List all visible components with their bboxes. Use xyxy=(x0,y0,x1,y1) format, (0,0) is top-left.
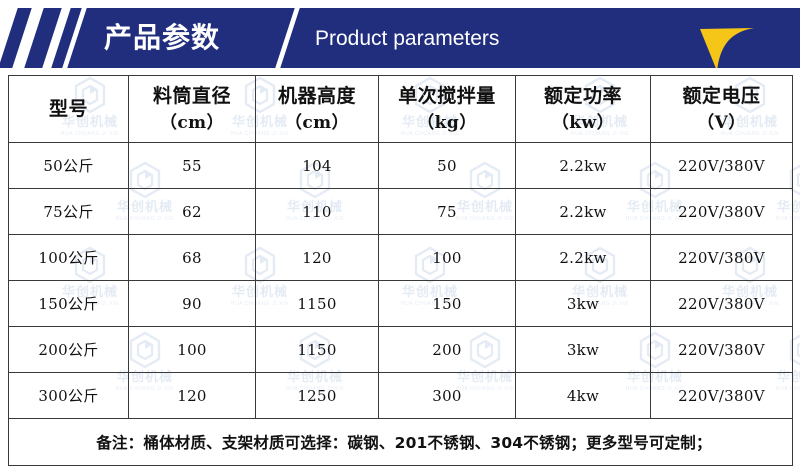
column-header-rated-voltage: 额定电压 （V） xyxy=(651,76,793,143)
cell-rated-voltage: 220V/380V xyxy=(651,281,793,327)
cell-barrel-diameter: 90 xyxy=(129,281,256,327)
cell-machine-height: 104 xyxy=(256,143,379,189)
cell-rated-power: 3kw xyxy=(516,281,651,327)
table-row: 75公斤62110752.2kw220V/380V xyxy=(9,189,793,235)
column-header-model: 型号 xyxy=(9,76,129,143)
cell-machine-height: 1150 xyxy=(256,281,379,327)
column-header-barrel-diameter: 料筒直径 （cm） xyxy=(129,76,256,143)
column-header-batch-capacity-unit: （kg） xyxy=(417,113,477,133)
table-footnote: 备注：桶体材质、支架材质可选择：碳钢、201不锈钢、304不锈钢；更多型号可定制… xyxy=(9,419,793,466)
table-footnote-row: 备注：桶体材质、支架材质可选择：碳钢、201不锈钢、304不锈钢；更多型号可定制… xyxy=(9,419,793,466)
cell-barrel-diameter: 55 xyxy=(129,143,256,189)
cell-batch-capacity: 75 xyxy=(379,189,516,235)
cell-machine-height: 1250 xyxy=(256,373,379,419)
column-header-machine-height-label: 机器高度 xyxy=(278,85,356,107)
cell-batch-capacity: 300 xyxy=(379,373,516,419)
cell-rated-voltage: 220V/380V xyxy=(651,189,793,235)
cell-rated-voltage: 220V/380V xyxy=(651,143,793,189)
column-header-batch-capacity: 单次搅拌量 （kg） xyxy=(379,76,516,143)
page-title-chinese: 产品参数 xyxy=(104,20,220,56)
cell-rated-voltage: 220V/380V xyxy=(651,235,793,281)
cell-rated-power: 2.2kw xyxy=(516,235,651,281)
column-header-rated-power-label: 额定功率 xyxy=(544,85,622,107)
cell-model: 75公斤 xyxy=(9,189,129,235)
table-row: 150公斤9011501503kw220V/380V xyxy=(9,281,793,327)
cell-machine-height: 1150 xyxy=(256,327,379,373)
column-header-rated-power-unit: （kw） xyxy=(552,113,614,133)
page-header-banner: 产品参数 Product parameters xyxy=(0,8,800,68)
cell-rated-voltage: 220V/380V xyxy=(651,373,793,419)
column-header-barrel-diameter-unit: （cm） xyxy=(160,113,224,133)
column-header-rated-voltage-unit: （V） xyxy=(697,113,746,133)
table-row: 50公斤55104502.2kw220V/380V xyxy=(9,143,793,189)
cell-batch-capacity: 100 xyxy=(379,235,516,281)
table-header: 型号 料筒直径 （cm） 机器高度 （cm） 单次搅拌量 （kg） 额定功率 （… xyxy=(9,76,793,143)
table-footer: 备注：桶体材质、支架材质可选择：碳钢、201不锈钢、304不锈钢；更多型号可定制… xyxy=(9,419,793,466)
cell-model: 200公斤 xyxy=(9,327,129,373)
cell-rated-power: 2.2kw xyxy=(516,143,651,189)
column-header-machine-height: 机器高度 （cm） xyxy=(256,76,379,143)
cell-machine-height: 120 xyxy=(256,235,379,281)
cell-rated-power: 4kw xyxy=(516,373,651,419)
column-header-machine-height-unit: （cm） xyxy=(285,113,349,133)
column-header-model-label: 型号 xyxy=(49,98,88,120)
table-header-row: 型号 料筒直径 （cm） 机器高度 （cm） 单次搅拌量 （kg） 额定功率 （… xyxy=(9,76,793,143)
cell-machine-height: 110 xyxy=(256,189,379,235)
table-body: 50公斤55104502.2kw220V/380V75公斤62110752.2k… xyxy=(9,143,793,419)
curved-triangle-icon xyxy=(700,26,754,68)
cell-model: 100公斤 xyxy=(9,235,129,281)
cell-rated-voltage: 220V/380V xyxy=(651,327,793,373)
cell-barrel-diameter: 62 xyxy=(129,189,256,235)
cell-barrel-diameter: 68 xyxy=(129,235,256,281)
cell-rated-power: 3kw xyxy=(516,327,651,373)
cell-barrel-diameter: 100 xyxy=(129,327,256,373)
column-header-rated-voltage-label: 额定电压 xyxy=(682,85,760,107)
column-header-rated-power: 额定功率 （kw） xyxy=(516,76,651,143)
table-row: 300公斤12012503004kw220V/380V xyxy=(9,373,793,419)
cell-model: 150公斤 xyxy=(9,281,129,327)
cell-model: 50公斤 xyxy=(9,143,129,189)
cell-batch-capacity: 200 xyxy=(379,327,516,373)
cell-model: 300公斤 xyxy=(9,373,129,419)
cell-batch-capacity: 50 xyxy=(379,143,516,189)
cell-rated-power: 2.2kw xyxy=(516,189,651,235)
product-parameters-table: 型号 料筒直径 （cm） 机器高度 （cm） 单次搅拌量 （kg） 额定功率 （… xyxy=(8,75,793,466)
cell-batch-capacity: 150 xyxy=(379,281,516,327)
column-header-batch-capacity-label: 单次搅拌量 xyxy=(398,85,496,107)
cell-barrel-diameter: 120 xyxy=(129,373,256,419)
page-title-english: Product parameters xyxy=(315,25,499,53)
column-header-barrel-diameter-label: 料筒直径 xyxy=(153,85,231,107)
table-row: 100公斤681201002.2kw220V/380V xyxy=(9,235,793,281)
table-row: 200公斤10011502003kw220V/380V xyxy=(9,327,793,373)
